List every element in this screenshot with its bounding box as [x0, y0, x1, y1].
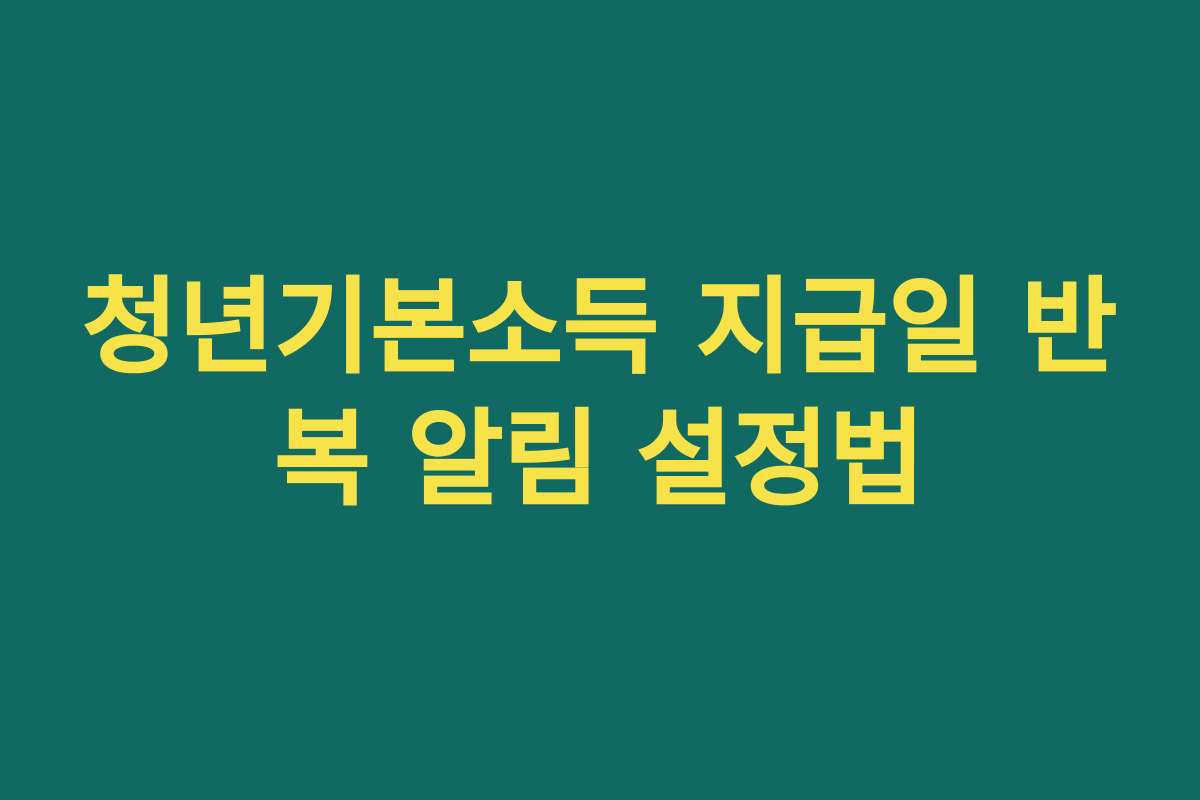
title-line-1: 청년기본소득 지급일 반 — [80, 261, 1120, 393]
page-title: 청년기본소득 지급일 반 복 알림 설정법 — [70, 261, 1130, 525]
title-line-2: 복 알림 설정법 — [80, 393, 1120, 525]
thumbnail-card: 청년기본소득 지급일 반 복 알림 설정법 — [0, 0, 1200, 800]
